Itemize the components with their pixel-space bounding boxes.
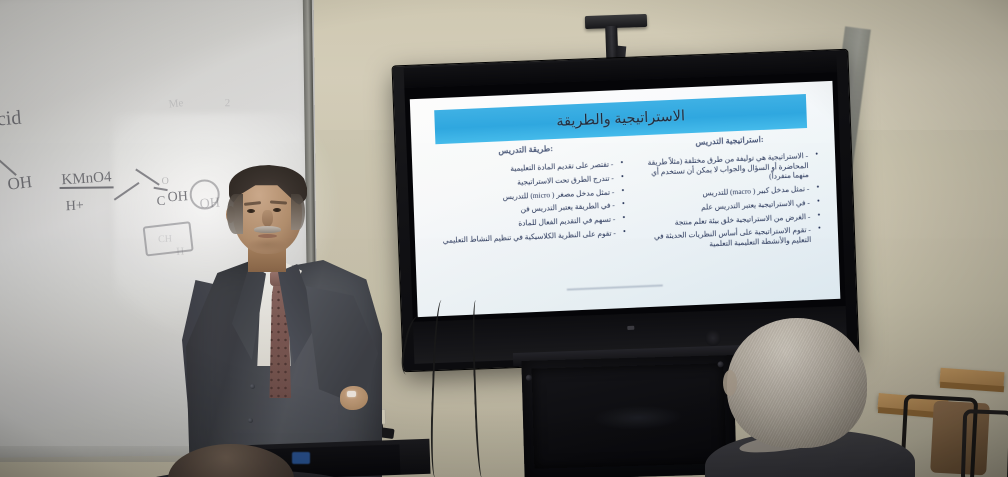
- whiteboard-note: cid: [0, 107, 22, 132]
- attendee-ear: [723, 370, 737, 396]
- slide-footer-mark: [567, 284, 663, 290]
- seated-attendee-front-left: [150, 440, 330, 477]
- jacket-button-icon: [248, 418, 253, 423]
- display-cabinet-stand: [521, 355, 736, 477]
- whiteboard-note: C: [156, 193, 165, 209]
- lecturer-hair-side-right: [291, 194, 305, 230]
- whiteboard-note: H: [176, 245, 185, 257]
- panel-screen-area[interactable]: الاستراتيجية والطريقة :استراتيجية التدري…: [404, 72, 845, 322]
- lecturer-eye: [273, 208, 281, 212]
- handheld-remote-icon: [347, 391, 356, 397]
- whiteboard-note: CH: [158, 234, 172, 246]
- seated-attendee-right: [715, 318, 893, 477]
- bullet-list-method: - تقتصر على تقديم المادة التعليمية - تند…: [428, 159, 627, 246]
- slide-column-teaching-method: :طريقة التدريس - تقتصر على تقديم المادة …: [428, 140, 628, 250]
- whiteboard-note: O: [161, 176, 168, 187]
- whiteboard-note: H+: [65, 198, 84, 215]
- standing-lecturer: [186, 168, 396, 477]
- bullet-list-strategy: - الاستراتيجية هي توليفة من طرق مختلفة (…: [641, 151, 822, 252]
- cabinet-reflection: [593, 404, 684, 431]
- whiteboard-note: Me: [168, 97, 184, 110]
- lecture-hall-photo: cidOHKMnO4H+OCOHOHMe2HCH الاستراتيجية وا…: [0, 0, 1008, 477]
- attendee-head: [168, 444, 294, 477]
- lecturer-eye: [247, 209, 255, 213]
- whiteboard-note: KMnO4: [61, 169, 112, 189]
- attendee-hair-texture: [727, 318, 867, 448]
- column-heading-strategy: :استراتيجية التدريس: [640, 132, 818, 150]
- list-item: - الاستراتيجية هي توليفة من طرق مختلفة (…: [641, 151, 820, 188]
- whiteboard-note: OH: [6, 172, 33, 195]
- list-item: - تقوم الاستراتيجية على أساس النظريات ال…: [644, 225, 823, 252]
- lecturer-chin-shadow: [248, 238, 286, 251]
- whiteboard-note: 2: [225, 97, 231, 109]
- slide-column-teaching-strategy: :استراتيجية التدريس - الاستراتيجية هي تو…: [640, 132, 822, 256]
- lecturer-hair-side-left: [227, 194, 243, 234]
- cabinet-front-panel: [532, 363, 727, 468]
- ir-sensor-icon: [627, 326, 634, 330]
- jacket-button-icon: [250, 384, 255, 389]
- wooden-chair-frame-rear: [961, 409, 1008, 477]
- lecturer-nose: [262, 210, 273, 227]
- presentation-slide: الاستراتيجية والطريقة :استراتيجية التدري…: [410, 81, 841, 317]
- lecturer-moustache: [254, 226, 281, 233]
